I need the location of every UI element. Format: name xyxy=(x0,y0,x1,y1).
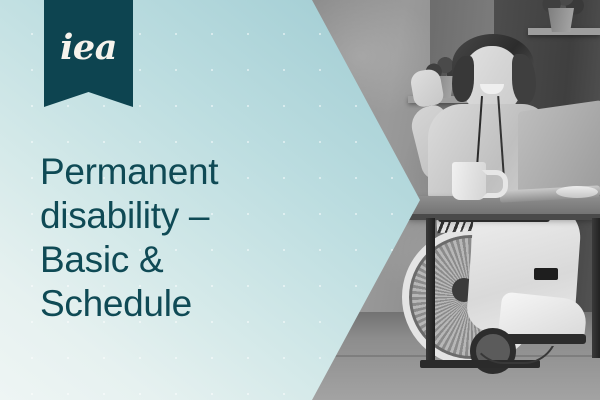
promotional-banner: iea Permanent disability – Basic & Sched… xyxy=(0,0,600,400)
iea-logo-ribbon[interactable]: iea xyxy=(44,0,133,107)
desk-edge xyxy=(408,214,600,220)
plant-pot-upper xyxy=(548,8,574,32)
coffee-mug xyxy=(452,162,486,200)
person-hair-left xyxy=(452,56,474,102)
logo-wordmark: iea xyxy=(44,30,133,65)
desk-leg-right xyxy=(592,218,600,358)
desk-leg-left xyxy=(426,218,435,368)
coffee-mug-handle xyxy=(482,170,508,198)
wheelchair-strap xyxy=(534,268,558,280)
page-title: Permanent disability – Basic & Schedule xyxy=(40,150,290,326)
plate xyxy=(556,186,598,198)
